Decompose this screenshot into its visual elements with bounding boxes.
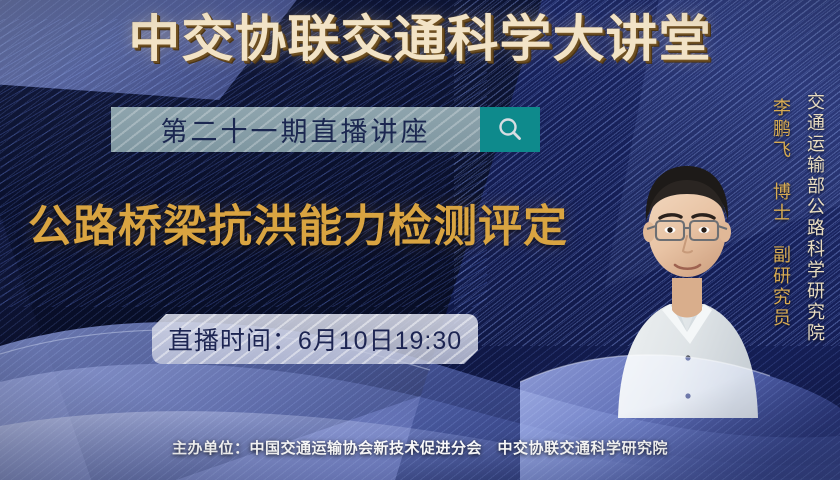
- lecture-title: 公路桥梁抗洪能力检测评定: [28, 205, 568, 249]
- subtitle-bar-label-box: 第二十一期直播讲座: [111, 107, 480, 152]
- webinar-poster: 中交协联交通科学大讲堂 第二十一期直播讲座 公路桥梁抗洪能力检测评定 直播时间：…: [0, 0, 840, 480]
- live-time-badge: 直播时间：6月10日19:30: [152, 314, 478, 364]
- search-icon-box[interactable]: [480, 107, 540, 152]
- live-time-text: 直播时间：6月10日19:30: [168, 321, 462, 357]
- search-icon: [495, 115, 525, 145]
- speaker-organization: 交通运输部公路科学研究院: [802, 92, 828, 344]
- subtitle-bar: 第二十一期直播讲座: [111, 107, 540, 152]
- speaker-photo: [608, 118, 764, 418]
- footer-organizers: 主办单位：中国交通运输协会新技术促进分会 中交协联交通科学研究院: [0, 437, 840, 458]
- page-title: 中交协联交通科学大讲堂: [0, 14, 840, 64]
- subtitle-text: 第二十一期直播讲座: [161, 110, 431, 149]
- speaker-name: 李鹏飞 博士 副研究员: [768, 98, 794, 329]
